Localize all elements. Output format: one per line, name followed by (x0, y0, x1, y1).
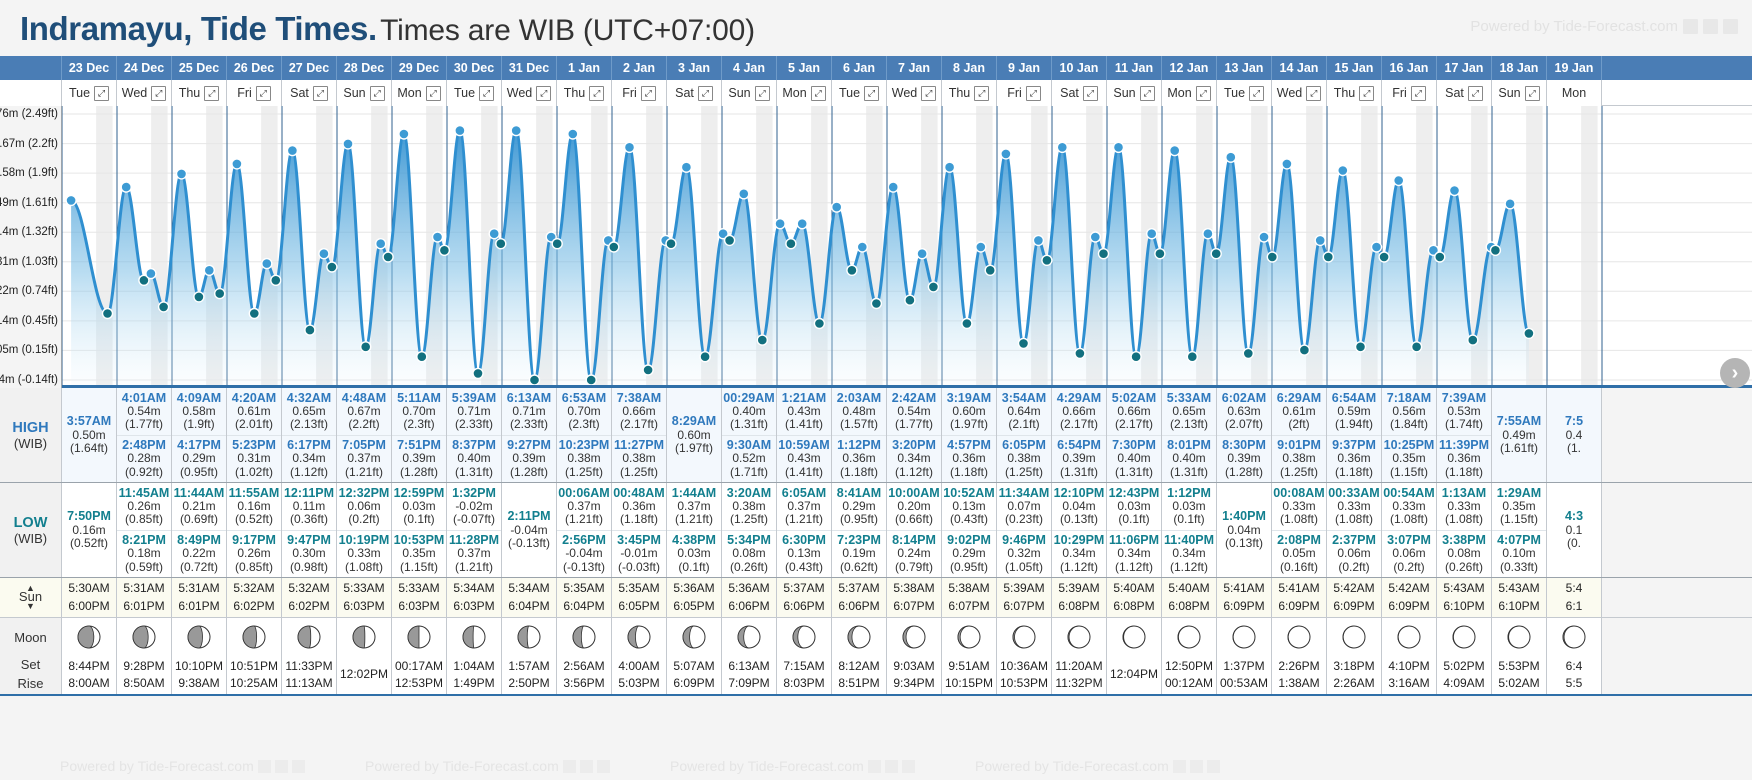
moon-phase-icon (1231, 624, 1257, 650)
date-header-cell[interactable]: 26 Dec (227, 56, 282, 80)
expand-icon[interactable]: ⤢ (1411, 86, 1426, 101)
moon-setrise-cell: 7:15AM8:03PM (777, 656, 832, 694)
moon-cell (942, 618, 997, 656)
weekday-header-cell[interactable]: Tue⤢ (447, 80, 502, 106)
high-tide-cell: 3:57AM0.50m(1.64ft) (62, 388, 117, 482)
low-tide-event: 8:21PM0.18m(0.59ft) (117, 530, 171, 578)
date-header-cell[interactable]: 16 Jan (1382, 56, 1437, 80)
moon-phase-icon (1121, 624, 1147, 650)
sun-cell: 5:40AM6:08PM (1107, 578, 1162, 617)
moon-rise-time: 5:5 (1566, 675, 1583, 692)
high-tide-time: 00:29AM (723, 391, 774, 405)
high-tide-feet: (1.15ft) (1390, 466, 1428, 480)
high-tide-event: 4:48AM0.67m(2.2ft) (337, 388, 391, 435)
high-tide-meters: 0.58m (182, 405, 215, 419)
high-tide-feet: (2.1ft) (1008, 418, 1039, 432)
low-tide-feet: (1.21ft) (675, 513, 713, 527)
high-tide-event: 3:20PM0.34m(1.12ft) (887, 435, 941, 483)
moon-cell (1217, 618, 1272, 656)
weekday-header-cell[interactable]: Fri⤢ (1382, 80, 1437, 106)
weekday-header-cell[interactable]: Sat⤢ (1437, 80, 1492, 106)
high-tide-time: 7:5 (1565, 414, 1583, 428)
date-header-cell[interactable]: 25 Dec (172, 56, 227, 80)
expand-icon[interactable]: ⤢ (151, 86, 166, 101)
date-header-cell[interactable]: 30 Dec (447, 56, 502, 80)
moon-setrise-cell: 9:28PM8:50AM (117, 656, 172, 694)
weekday-header-cell[interactable]: Sat⤢ (1052, 80, 1107, 106)
expand-icon[interactable]: ⤢ (1196, 86, 1211, 101)
sunrise-time: 5:41AM (1223, 580, 1264, 597)
moon-setrise-cell: 5:53PM5:02AM (1492, 656, 1547, 694)
moon-set-time: 9:03AM (893, 658, 934, 675)
low-tide-time: 12:59PM (394, 486, 445, 500)
weekday-header-cell[interactable]: Thu⤢ (172, 80, 227, 106)
low-tide-time: 9:02PM (947, 533, 991, 547)
moon-setrise-cell: 10:36AM10:53PM (997, 656, 1052, 694)
sunset-time: 6:01PM (123, 598, 164, 615)
high-tide-meters: 0.60m (952, 405, 985, 419)
weekday-header-cell[interactable]: Wed⤢ (887, 80, 942, 106)
high-tide-time: 6:17PM (287, 438, 331, 452)
weekday-header-cell[interactable]: Thu⤢ (557, 80, 612, 106)
moon-cell (557, 618, 612, 656)
weekday-header-cell[interactable]: Sun⤢ (722, 80, 777, 106)
sun-cell: 5:31AM6:01PM (117, 578, 172, 617)
title-location: Indramayu, Tide Times. (20, 10, 377, 47)
low-tide-feet: (1.08ft) (345, 561, 383, 575)
sun-cell: 5:30AM6:00PM (62, 578, 117, 617)
warning-icon (292, 760, 305, 773)
moon-setrise-cell: 2:56AM3:56PM (557, 656, 612, 694)
expand-icon[interactable]: ⤢ (974, 86, 989, 101)
sun-cell: 5:42AM6:09PM (1382, 578, 1437, 617)
sunrise-time: 5:40AM (1168, 580, 1209, 597)
weekday-header-cell[interactable]: Tue⤢ (1217, 80, 1272, 106)
sun-cell: 5:35AM6:04PM (557, 578, 612, 617)
low-tide-event: 2:08PM0.05m(0.16ft) (1272, 530, 1326, 578)
high-tide-meters: 0.71m (457, 405, 490, 419)
low-tide-cell: 10:52AM0.13m(0.43ft)9:02PM0.29m(0.95ft) (942, 483, 997, 577)
high-tide-meters: 0.36m (1447, 452, 1480, 466)
expand-icon[interactable]: ⤢ (1468, 86, 1483, 101)
low-tide-time: 1:13AM (1442, 486, 1486, 500)
low-tide-time: 3:45PM (617, 533, 661, 547)
moon-phase-icon (296, 624, 322, 650)
warning-icon (902, 760, 915, 773)
weekday-header-cell[interactable]: Fri⤢ (612, 80, 667, 106)
low-tide-event: 00:33AM0.33m(1.08ft) (1327, 483, 1381, 530)
moon-setrise-row: Set Rise 8:44PM8:00AM9:28PM8:50AM10:10PM… (0, 656, 1752, 696)
high-tide-cell: 4:32AM0.65m(2.13ft)6:17PM0.34m(1.12ft) (282, 388, 337, 482)
low-tide-feet: (0.62ft) (840, 561, 878, 575)
sunrise-time: 5:34AM (453, 580, 494, 597)
expand-icon[interactable]: ⤢ (811, 86, 826, 101)
low-tide-feet: (-0.07ft) (453, 513, 495, 527)
high-tide-feet: (2.01ft) (235, 418, 273, 432)
date-header-cell[interactable]: 18 Jan (1492, 56, 1547, 80)
sunset-time: 6:07PM (1003, 598, 1044, 615)
high-tide-feet: (1.12ft) (895, 466, 933, 480)
weekday-label: Tue (69, 86, 90, 100)
moon-phase-icon (736, 624, 762, 650)
moon-set-time: 11:33PM (285, 658, 332, 675)
date-header-cell[interactable]: 28 Dec (337, 56, 392, 80)
low-tide-feet: (0.1ft) (1173, 513, 1204, 527)
moon-set-time: 1:57AM (508, 658, 549, 675)
moon-cell (392, 618, 447, 656)
weekday-header-cell[interactable]: Mon⤢ (777, 80, 832, 106)
moon-cell (337, 618, 392, 656)
high-tide-time: 7:51PM (397, 438, 441, 452)
expand-icon[interactable]: ⤢ (1359, 86, 1374, 101)
high-tide-feet: (2.17ft) (1115, 418, 1153, 432)
low-tide-feet: (1.08ft) (1445, 513, 1483, 527)
date-header-cell[interactable]: 31 Dec (502, 56, 557, 80)
high-tide-feet: (1.12ft) (290, 466, 328, 480)
sunset-time: 6:04PM (508, 598, 549, 615)
sunset-time: 6:04PM (563, 598, 604, 615)
low-tide-time: 00:08AM (1273, 486, 1324, 500)
weekday-label: Mon (782, 86, 806, 100)
high-tide-cell: 6:29AM0.61m(2ft)9:01PM0.38m(1.25ft) (1272, 388, 1327, 482)
high-tide-event: 6:53AM0.70m(2.3ft) (557, 388, 611, 435)
high-tide-feet: (2.33ft) (455, 418, 493, 432)
high-tide-feet: (1.94ft) (1335, 418, 1373, 432)
date-header-cell[interactable]: 10 Jan (1052, 56, 1107, 80)
moon-set-time: 2:56AM (563, 658, 604, 675)
date-header-cell[interactable]: 19 Jan (1547, 56, 1602, 80)
date-header-cell[interactable]: 23 Dec (62, 56, 117, 80)
high-tide-time: 10:25PM (1384, 438, 1435, 452)
low-tide-time: 1:32PM (452, 486, 496, 500)
weekday-header-cell[interactable]: Mon (1547, 80, 1602, 106)
high-tide-event: 4:29AM0.66m(2.17ft) (1052, 388, 1106, 435)
expand-icon[interactable]: ⤢ (641, 86, 656, 101)
moon-rise-time: 11:32PM (1055, 675, 1102, 692)
date-header-cell[interactable]: 4 Jan (722, 56, 777, 80)
high-tide-cell: 6:53AM0.70m(2.3ft)10:23PM0.38m(1.25ft) (557, 388, 612, 482)
weekday-header-cell[interactable]: Mon⤢ (392, 80, 447, 106)
low-tide-meters: 0.13m (787, 547, 820, 561)
moon-rise-time: 3:56PM (563, 675, 604, 692)
high-tide-event: 5:11AM0.70m(2.3ft) (392, 388, 446, 435)
high-tide-feet: (1.28ft) (400, 466, 438, 480)
expand-icon[interactable]: ⤢ (1306, 86, 1321, 101)
weekday-header-cell[interactable]: Sat⤢ (667, 80, 722, 106)
high-tide-meters: 0.28m (127, 452, 160, 466)
low-tide-feet: (0.66ft) (895, 513, 933, 527)
high-tide-meters: 0.60m (677, 429, 710, 443)
low-tide-cell: 1:13AM0.33m(1.08ft)3:38PM0.08m(0.26ft) (1437, 483, 1492, 577)
expand-icon[interactable]: ⤢ (479, 86, 494, 101)
weekday-header-cell[interactable]: Sun⤢ (337, 80, 392, 106)
low-tide-meters: 0.04m (1062, 500, 1095, 514)
high-tide-cell: 5:02AM0.66m(2.17ft)7:30PM0.40m(1.31ft) (1107, 388, 1162, 482)
sunrise-time: 5:41AM (1278, 580, 1319, 597)
low-tide-cell: 11:55AM0.16m(0.52ft)9:17PM0.26m(0.85ft) (227, 483, 282, 577)
high-tide-time: 5:39AM (452, 391, 496, 405)
low-tide-time: 11:40PM (1164, 533, 1214, 547)
date-header-cell[interactable]: 14 Jan (1272, 56, 1327, 80)
low-tide-event: 5:34PM0.08m(0.26ft) (722, 530, 776, 578)
weekday-header-cell[interactable]: Sat⤢ (282, 80, 337, 106)
low-tide-event: 8:14PM0.24m(0.79ft) (887, 530, 941, 578)
low-tide-cell: 11:34AM0.07m(0.23ft)9:46PM0.32m(1.05ft) (997, 483, 1052, 577)
expand-icon[interactable]: ⤢ (1026, 86, 1041, 101)
y-axis-tick: 0.05m (0.15ft) (0, 344, 58, 356)
low-tide-feet: (0.95ft) (840, 513, 878, 527)
high-tide-cell: 7:50.4(1. (1547, 388, 1602, 482)
high-tide-time: 9:01PM (1277, 438, 1321, 452)
low-tide-time: 2:37PM (1332, 533, 1376, 547)
moon-phase-icon (1286, 624, 1312, 650)
low-tide-event: 11:28PM0.37m(1.21ft) (447, 530, 501, 578)
moon-setrise-cell: 12:04PM (1107, 656, 1162, 694)
weekday-label: Sat (675, 86, 694, 100)
expand-icon[interactable]: ⤢ (1249, 86, 1264, 101)
high-tide-feet: (1.25ft) (1005, 466, 1043, 480)
expand-icon[interactable]: ⤢ (370, 86, 385, 101)
sunrise-time: 5:33AM (398, 580, 439, 597)
low-label-text: LOW (14, 515, 48, 531)
date-header-cell[interactable]: 17 Jan (1437, 56, 1492, 80)
low-tide-feet: (1.21ft) (785, 513, 823, 527)
weekday-header-cell[interactable]: Fri⤢ (997, 80, 1052, 106)
date-header-cell[interactable]: 12 Jan (1162, 56, 1217, 80)
high-tide-time: 5:33AM (1167, 391, 1211, 405)
date-header-cell[interactable]: 8 Jan (942, 56, 997, 80)
weekday-header-cell[interactable]: Sun⤢ (1107, 80, 1162, 106)
date-header-cell[interactable]: 3 Jan (667, 56, 722, 80)
high-tide-event: 6:54PM0.39m(1.31ft) (1052, 435, 1106, 483)
high-tide-event: 6:13AM0.71m(2.33ft) (502, 388, 556, 435)
date-header-cell[interactable]: 13 Jan (1217, 56, 1272, 80)
chart-plot-area[interactable] (62, 106, 1752, 388)
date-header-cell[interactable]: 24 Dec (117, 56, 172, 80)
sun-cell: 5:43AM6:10PM (1492, 578, 1547, 617)
low-tide-time: 11:44AM (174, 486, 225, 500)
high-tide-feet: (1.77ft) (895, 418, 933, 432)
weekday-header-cell[interactable]: Wed⤢ (1272, 80, 1327, 106)
high-tide-event: 10:23PM0.38m(1.25ft) (557, 435, 611, 483)
moon-set-time: 11:20AM (1055, 658, 1102, 675)
weekday-header-cell[interactable]: Wed⤢ (502, 80, 557, 106)
low-tide-event: 11:45AM0.26m(0.85ft) (117, 483, 171, 530)
expand-icon[interactable]: ⤢ (698, 86, 713, 101)
sunrise-time: 5:32AM (233, 580, 274, 597)
high-tide-cell: 4:20AM0.61m(2.01ft)5:23PM0.31m(1.02ft) (227, 388, 282, 482)
low-tide-feet: (1.08ft) (1335, 513, 1373, 527)
weekday-header-row: Tue⤢Wed⤢Thu⤢Fri⤢Sat⤢Sun⤢Mon⤢Tue⤢Wed⤢Thu⤢… (0, 80, 1752, 106)
weekday-label: Sat (1445, 86, 1464, 100)
low-tide-meters: 0.30m (292, 547, 325, 561)
low-tide-feet: (0.2ft) (348, 513, 379, 527)
high-tide-meters: 0.59m (1337, 405, 1370, 419)
low-tide-cell: 7:50PM0.16m(0.52ft) (62, 483, 117, 577)
sunset-time: 6:09PM (1333, 598, 1374, 615)
moon-setrise-cell: 5:07AM6:09PM (667, 656, 722, 694)
low-tide-event: 11:06PM0.34m(1.12ft) (1107, 530, 1161, 578)
low-tide-time: 11:34AM (999, 486, 1050, 500)
low-tide-feet: (1.12ft) (1060, 561, 1098, 575)
low-tide-event: 6:30PM0.13m(0.43ft) (777, 530, 831, 578)
date-header-cell[interactable]: 5 Jan (777, 56, 832, 80)
low-tide-feet: (0.1ft) (678, 561, 709, 575)
moon-set-time: 00:17AM (395, 658, 443, 675)
expand-icon[interactable]: ⤢ (1140, 86, 1155, 101)
high-tide-meters: 0.39m (402, 452, 435, 466)
sunset-time: 6:01PM (178, 598, 219, 615)
sun-cell: 5:36AM6:05PM (667, 578, 722, 617)
weekday-header-cell[interactable]: Sun⤢ (1492, 80, 1547, 106)
low-tide-meters: 0.24m (897, 547, 930, 561)
moon-rise-time: 1:49PM (453, 675, 494, 692)
low-tide-meters: 0.08m (1447, 547, 1480, 561)
high-tide-event: 10:25PM0.35m(1.15ft) (1382, 435, 1436, 483)
high-tide-feet: (1.41ft) (785, 466, 823, 480)
sun-cell: 5:39AM6:07PM (997, 578, 1052, 617)
date-header-cell[interactable]: 9 Jan (997, 56, 1052, 80)
y-axis-tick: 0.58m (1.9ft) (0, 167, 58, 179)
expand-icon[interactable]: ⤢ (921, 86, 936, 101)
high-tide-meters: 0.29m (182, 452, 215, 466)
y-axis-tick: 0.76m (2.49ft) (0, 108, 58, 120)
date-header-cell[interactable]: 1 Jan (557, 56, 612, 80)
high-tide-time: 6:02AM (1222, 391, 1266, 405)
moon-rise-time: 2:50PM (508, 675, 549, 692)
moon-set-time: 2:26PM (1278, 658, 1319, 675)
low-tide-event: 4:07PM0.10m(0.33ft) (1492, 530, 1546, 578)
high-tide-feet: (1.31ft) (455, 466, 493, 480)
low-tide-meters: 0.06m (347, 500, 380, 514)
expand-icon[interactable]: ⤢ (536, 86, 551, 101)
date-header-cell[interactable]: 6 Jan (832, 56, 887, 80)
y-axis-tick: 0.67m (2.2ft) (0, 138, 58, 150)
date-header-cell[interactable]: 29 Dec (392, 56, 447, 80)
high-tide-feet: (1. (1567, 442, 1581, 456)
powered-by-label: Powered by Tide-Forecast.com (1470, 18, 1678, 35)
sunrise-time: 5:33AM (343, 580, 384, 597)
next-page-arrow-icon[interactable]: › (1720, 358, 1750, 388)
expand-icon[interactable]: ⤢ (1083, 86, 1098, 101)
date-header-cell[interactable]: 11 Jan (1107, 56, 1162, 80)
sunset-time: 6:07PM (893, 598, 934, 615)
low-tide-meters: 0.13m (952, 500, 985, 514)
expand-icon[interactable]: ⤢ (94, 86, 109, 101)
high-tide-meters: 0.49m (1502, 429, 1535, 443)
low-tide-event: 11:44AM0.21m(0.69ft) (172, 483, 226, 530)
high-tide-feet: (1.77ft) (125, 418, 163, 432)
moon-rise-time: 8:00AM (68, 675, 109, 692)
low-tide-event: 1:40PM0.04m(0.13ft) (1217, 483, 1271, 577)
low-tide-time: 4:3 (1565, 509, 1583, 523)
moon-phase-icon (351, 624, 377, 650)
expand-icon[interactable]: ⤢ (589, 86, 604, 101)
date-header-cell[interactable]: 2 Jan (612, 56, 667, 80)
date-header-cell[interactable]: 27 Dec (282, 56, 337, 80)
weekday-label: Fri (622, 86, 637, 100)
sun-row: ▲ Sun ▼ 5:30AM6:00PM5:31AM6:01PM5:31AM6:… (0, 578, 1752, 618)
date-header-cell[interactable]: 7 Jan (887, 56, 942, 80)
expand-icon[interactable]: ⤢ (256, 86, 271, 101)
weekday-header-cell[interactable]: Thu⤢ (942, 80, 997, 106)
moon-setrise-cell: 11:33PM11:13AM (282, 656, 337, 694)
low-tide-meters: 0.33m (1337, 500, 1370, 514)
high-tide-meters: 0.40m (1117, 452, 1150, 466)
high-tide-time: 1:12PM (837, 438, 881, 452)
weekday-label: Wed (1277, 86, 1302, 100)
weekday-header-cell[interactable]: Wed⤢ (117, 80, 172, 106)
expand-icon[interactable]: ⤢ (755, 86, 770, 101)
high-tide-feet: (2.13ft) (290, 418, 328, 432)
high-tide-meters: 0.70m (567, 405, 600, 419)
low-tide-meters: 0.33m (1447, 500, 1480, 514)
weekday-header-cell[interactable]: Thu⤢ (1327, 80, 1382, 106)
low-tide-feet: (1.12ft) (1115, 561, 1153, 575)
high-tide-meters: 0.40m (1172, 452, 1205, 466)
low-tide-meters: 0.1 (1566, 524, 1583, 538)
low-tide-time: 11:55AM (229, 486, 280, 500)
high-tide-time: 4:20AM (232, 391, 276, 405)
low-tide-time: 8:21PM (122, 533, 166, 547)
moon-phase-icon (956, 624, 982, 650)
low-tide-feet: (0.23ft) (1005, 513, 1043, 527)
refresh-icon (275, 760, 288, 773)
expand-icon[interactable]: ⤢ (864, 86, 879, 101)
expand-icon[interactable]: ⤢ (1525, 86, 1540, 101)
sunset-time: 6:08PM (1168, 598, 1209, 615)
low-tide-time: 12:43PM (1109, 486, 1160, 500)
weekday-label: Tue (839, 86, 860, 100)
sun-cell: 5:39AM6:08PM (1052, 578, 1107, 617)
weekday-header-cell[interactable]: Fri⤢ (227, 80, 282, 106)
date-header-cell[interactable]: 15 Jan (1327, 56, 1382, 80)
chart-icon (1173, 760, 1186, 773)
moon-cell (667, 618, 722, 656)
low-tide-time: 7:50PM (67, 509, 111, 523)
low-tide-time: 00:33AM (1328, 486, 1379, 500)
weekday-header-cell[interactable]: Tue⤢ (832, 80, 887, 106)
footer-watermark: Powered by Tide-Forecast.com (975, 758, 1220, 774)
low-tide-cell: 10:00AM0.20m(0.66ft)8:14PM0.24m(0.79ft) (887, 483, 942, 577)
moon-set-time: 8:44PM (68, 658, 109, 675)
high-tide-feet: (1.31ft) (1170, 466, 1208, 480)
low-tide-meters: 0.16m (237, 500, 270, 514)
moon-set-time: 10:36AM (1000, 658, 1048, 675)
sun-cell: 5:36AM6:06PM (722, 578, 777, 617)
moon-label: Moon (0, 618, 62, 656)
expand-icon[interactable]: ⤢ (313, 86, 328, 101)
sunset-time: 6:06PM (728, 598, 769, 615)
refresh-icon (1190, 760, 1203, 773)
high-tide-feet: (1.9ft) (183, 418, 214, 432)
weekday-header-cell[interactable]: Mon⤢ (1162, 80, 1217, 106)
moon-rise-time: 10:15PM (945, 675, 993, 692)
high-tide-event: 00:29AM0.40m(1.31ft) (722, 388, 776, 435)
low-tide-feet: (0.1ft) (1118, 513, 1149, 527)
moon-set-time: 10:10PM (175, 658, 223, 675)
page-title: Indramayu, Tide Times. Times are WIB (UT… (20, 10, 755, 48)
high-tide-meters: 0.64m (1007, 405, 1040, 419)
low-tide-meters: 0.10m (1502, 547, 1535, 561)
weekday-header-cell[interactable]: Tue⤢ (62, 80, 117, 106)
expand-icon[interactable]: ⤢ (426, 86, 441, 101)
expand-icon[interactable]: ⤢ (204, 86, 219, 101)
high-tide-cell: 7:55AM0.49m(1.61ft) (1492, 388, 1547, 482)
moon-setrise-cell: 12:50PM00:12AM (1162, 656, 1217, 694)
low-tide-event: 9:02PM0.29m(0.95ft) (942, 530, 996, 578)
moon-cell (832, 618, 887, 656)
